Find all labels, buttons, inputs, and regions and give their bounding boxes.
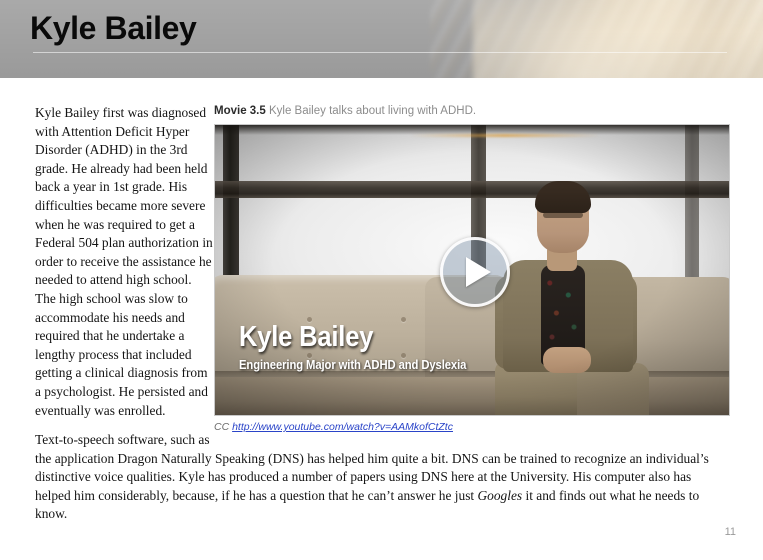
creative-commons-label: CC [214,421,229,433]
video-lower-third: Kyle Bailey Engineering Major with ADHD … [239,321,569,373]
video-subject-name: Kyle Bailey [239,321,529,353]
title-divider-rule [33,52,727,53]
video-source-link[interactable]: http://www.youtube.com/watch?v=AAMkofCtZ… [232,421,453,433]
play-triangle-glyph [466,257,491,287]
movie-caption-text: Kyle Bailey talks about living with ADHD… [269,105,476,117]
page-title: Kyle Bailey [30,7,196,49]
paragraph-two-emphasis: Googles [478,488,523,503]
video-subject-subtitle: Engineering Major with ADHD and Dyslexia [239,357,536,373]
page-header-banner: Kyle Bailey [0,0,763,78]
movie-caption-label: Movie 3.5 [214,105,266,117]
movie-caption: Movie 3.5 Kyle Bailey talks about living… [214,104,730,118]
video-player[interactable]: Kyle Bailey Engineering Major with ADHD … [214,124,730,416]
paragraph-two: Text-to-speech software, such as the app… [35,431,730,524]
play-icon[interactable] [440,237,510,307]
page-number: 11 [725,526,736,538]
page-content: Movie 3.5 Kyle Bailey talks about living… [0,78,763,560]
video-credit-line: CC http://www.youtube.com/watch?v=AAMkof… [214,421,730,433]
movie-figure: Movie 3.5 Kyle Bailey talks about living… [214,104,730,433]
